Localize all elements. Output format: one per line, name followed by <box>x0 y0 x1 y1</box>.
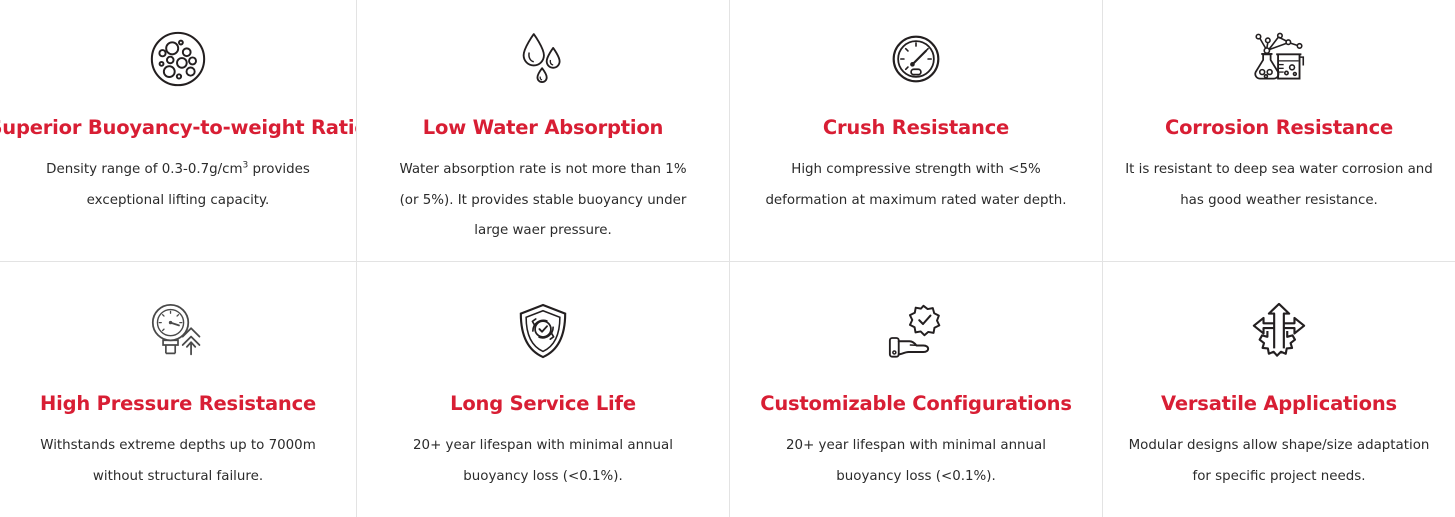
card-description: Modular designs allow shape/size adaptat… <box>1124 431 1434 491</box>
card-description: High compressive strength with <5% defor… <box>761 155 1071 215</box>
card-title: Superior Buoyancy-to-weight Ratio <box>0 116 368 139</box>
card-description: Withstands extreme depths up to 7000m wi… <box>23 431 333 491</box>
card-description: 20+ year lifespan with minimal annual bu… <box>761 431 1071 491</box>
feature-card-crush-resistance[interactable]: Crush Resistance High compressive streng… <box>729 0 1102 261</box>
feature-card-low-water-absorption[interactable]: Low Water Absorption Water absorption ra… <box>356 0 729 261</box>
shield-check-refresh-icon <box>516 300 570 362</box>
card-title: Customizable Configurations <box>760 392 1072 415</box>
water-droplets-icon <box>519 28 567 90</box>
card-title: High Pressure Resistance <box>40 392 316 415</box>
feature-card-superior-buoyancy-to-weight-ratio[interactable]: Superior Buoyancy-to-weight Ratio Densit… <box>0 0 356 261</box>
bubbles-circle-icon <box>147 28 209 90</box>
card-title: Versatile Applications <box>1161 392 1397 415</box>
card-title: Corrosion Resistance <box>1165 116 1393 139</box>
gauge-meter-icon <box>891 28 941 90</box>
card-description: Water absorption rate is not more than 1… <box>388 155 698 245</box>
desc-prefix: Density range of 0.3-0.7g/cm <box>46 162 242 177</box>
feature-card-high-pressure-resistance[interactable]: High Pressure Resistance Withstands extr… <box>0 261 356 517</box>
card-description: Density range of 0.3-0.7g/cm3 provides e… <box>23 155 333 215</box>
hand-gear-check-icon <box>885 300 947 362</box>
feature-card-customizable-configurations[interactable]: Customizable Configurations 20+ year lif… <box>729 261 1102 517</box>
feature-card-long-service-life[interactable]: Long Service Life 20+ year lifespan with… <box>356 261 729 517</box>
card-title: Crush Resistance <box>823 116 1009 139</box>
card-title: Low Water Absorption <box>423 116 663 139</box>
card-description: It is resistant to deep sea water corros… <box>1124 155 1434 215</box>
pressure-gauge-arrows-icon <box>149 300 207 362</box>
flask-beaker-icon <box>1251 28 1307 90</box>
card-description: 20+ year lifespan with minimal annual bu… <box>388 431 698 491</box>
gear-branching-arrows-icon <box>1250 300 1308 362</box>
feature-card-corrosion-resistance[interactable]: Corrosion Resistance It is resistant to … <box>1102 0 1455 261</box>
card-title: Long Service Life <box>450 392 636 415</box>
feature-grid: Superior Buoyancy-to-weight Ratio Densit… <box>0 0 1455 517</box>
feature-card-versatile-applications[interactable]: Versatile Applications Modular designs a… <box>1102 261 1455 517</box>
